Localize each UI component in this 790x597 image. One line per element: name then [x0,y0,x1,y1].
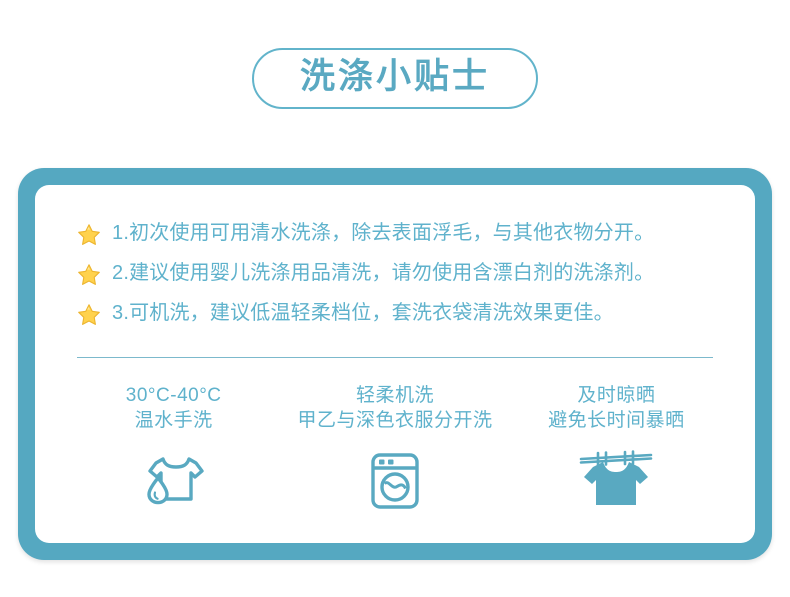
care-label-primary: 30°C-40°C [126,383,222,408]
washing-machine-icon [364,450,426,512]
tips-list: 1.初次使用可用清水洗涤，除去表面浮毛，与其他衣物分开。 2.建议使用婴儿洗涤用… [77,221,713,327]
tshirt-on-clothesline-icon [575,450,657,512]
star-icon [77,223,101,247]
star-icon [77,303,101,327]
section-divider [77,357,713,358]
care-label-secondary: 温水手洗 [135,408,213,433]
title-pill: 洗涤小贴士 [252,48,538,109]
care-label-secondary: 甲乙与深色衣服分开洗 [297,408,492,433]
list-item: 3.可机洗，建议低温轻柔档位，套洗衣袋清洗效果更佳。 [77,301,713,327]
card-inner-panel: 1.初次使用可用清水洗涤，除去表面浮毛，与其他衣物分开。 2.建议使用婴儿洗涤用… [35,185,755,543]
tip-text: 2.建议使用婴儿洗涤用品清洗，请勿使用含漂白剂的洗涤剂。 [112,261,654,285]
care-column-line-dry: 及时晾晒 避免长时间暴晒 [506,383,727,512]
list-item: 2.建议使用婴儿洗涤用品清洗，请勿使用含漂白剂的洗涤剂。 [77,261,713,287]
tip-text: 1.初次使用可用清水洗涤，除去表面浮毛，与其他衣物分开。 [112,221,654,245]
list-item: 1.初次使用可用清水洗涤，除去表面浮毛，与其他衣物分开。 [77,221,713,247]
care-columns: 30°C-40°C 温水手洗 轻柔机洗 甲乙与深色衣服分开洗 [63,383,727,512]
star-icon [77,263,101,287]
care-label-primary: 轻柔机洗 [356,383,434,408]
tshirt-water-drop-icon [139,450,209,512]
care-instructions-card: 1.初次使用可用清水洗涤，除去表面浮毛，与其他衣物分开。 2.建议使用婴儿洗涤用… [18,168,772,560]
care-label-primary: 及时晾晒 [577,383,655,408]
title-area: 洗涤小贴士 [0,0,790,109]
care-column-machine-wash: 轻柔机洗 甲乙与深色衣服分开洗 [284,383,505,512]
care-label-secondary: 避免长时间暴晒 [548,408,685,433]
tip-text: 3.可机洗，建议低温轻柔档位，套洗衣袋清洗效果更佳。 [112,301,614,325]
care-column-hand-wash: 30°C-40°C 温水手洗 [63,383,284,512]
page-title: 洗涤小贴士 [300,59,490,94]
